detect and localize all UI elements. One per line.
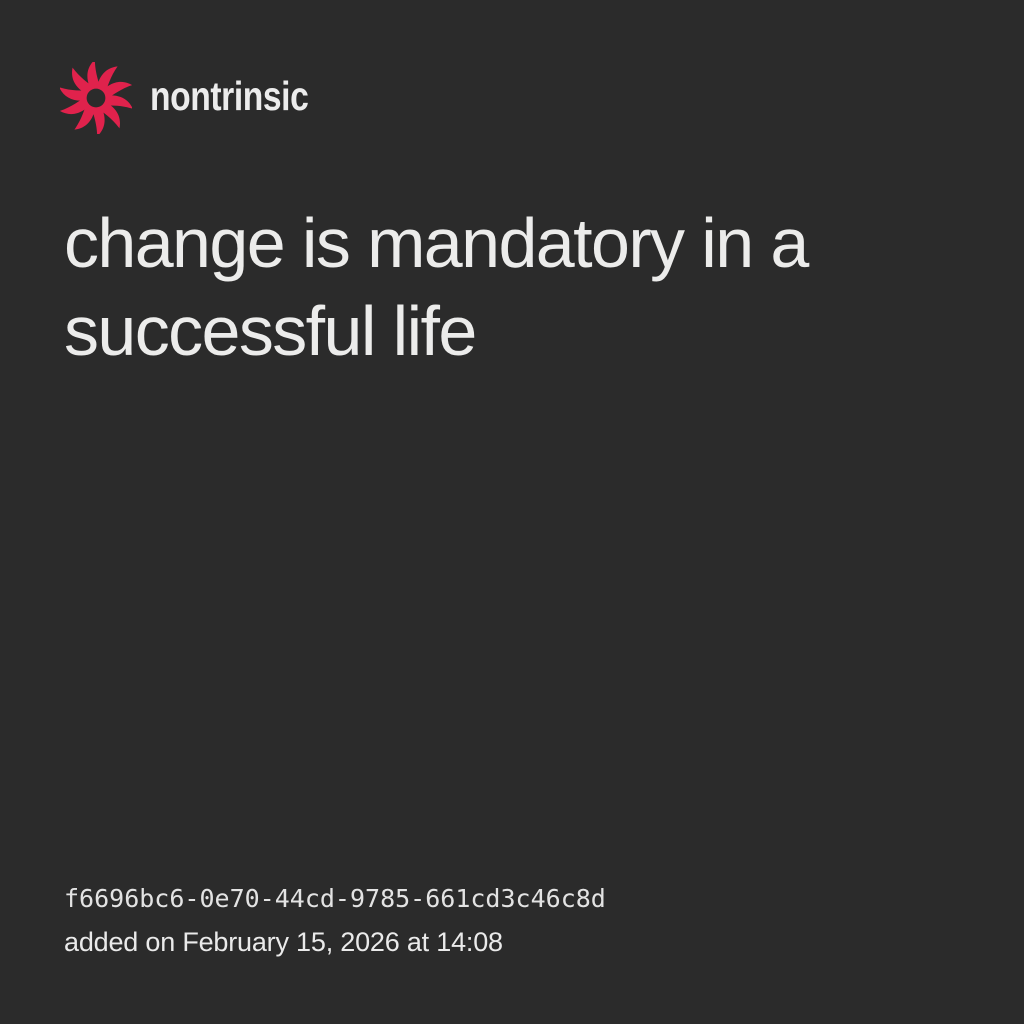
brand-wordmark: nontrinsic — [150, 76, 308, 120]
brand-header: nontrinsic — [60, 55, 343, 141]
record-metadata: f6696bc6-0e70-44cd-9785-661cd3c46c8d add… — [64, 879, 964, 962]
quote-card: nontrinsic change is mandatory in a succ… — [0, 0, 1024, 1024]
record-id: f6696bc6-0e70-44cd-9785-661cd3c46c8d — [64, 879, 964, 919]
spiral-pinwheel-icon — [60, 62, 132, 134]
added-timestamp: added on February 15, 2026 at 14:08 — [64, 922, 964, 962]
quote-headline: change is mandatory in a successful life — [64, 199, 944, 375]
